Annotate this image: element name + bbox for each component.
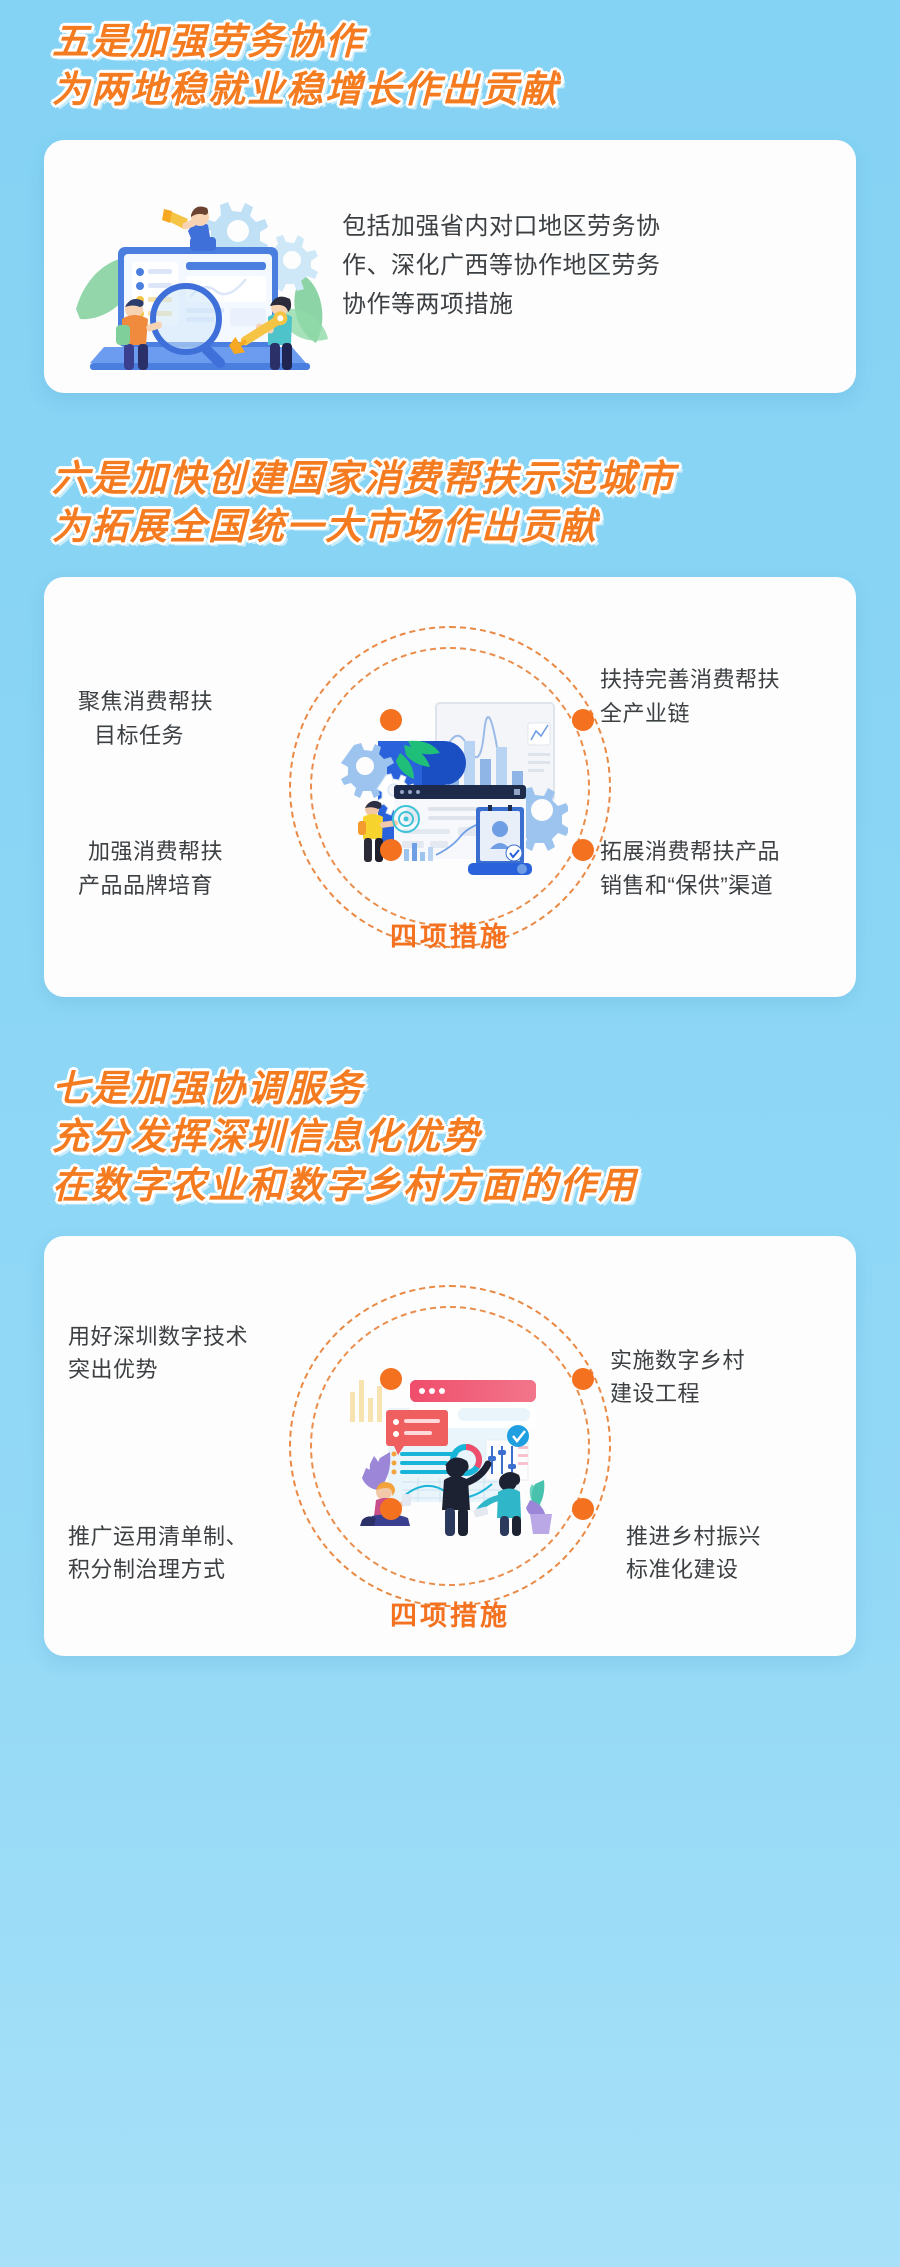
digital-village-people-dashboard-icon [332, 1356, 568, 1536]
node-label-bottom-right: 推进乡村振兴 标准化建设 [626, 1520, 761, 1587]
node-label-top-left: 聚焦消费帮扶 目标任务 [78, 685, 213, 752]
title-line: 充分发挥深圳信息化优势 [52, 1113, 900, 1161]
title-line: 六是加快创建国家消费帮扶示范城市 [52, 455, 900, 503]
section-five: 五是加强劳务协作 为两地稳就业稳增长作出贡献 [0, 0, 900, 393]
section-five-title: 五是加强劳务协作 为两地稳就业稳增长作出贡献 [0, 18, 900, 114]
node-label-bottom-left: 加强消费帮扶 产品品牌培育 [78, 835, 223, 902]
label-line: 实施数字乡村 [610, 1344, 745, 1377]
label-line: 扶持完善消费帮扶 [600, 663, 780, 696]
node-dot-top-left [380, 1368, 402, 1390]
four-node-diagram: 用好深圳数字技术 突出优势 实施数字乡村 建设工程 推广运用清单制、 积分制治理… [44, 1236, 856, 1656]
title-line: 五是加强劳务协作 [52, 18, 900, 66]
section-five-card: 包括加强省内对口地区劳务协 作、深化广西等协作地区劳务 协作等两项措施 [44, 140, 856, 393]
node-label-bottom-left: 推广运用清单制、 积分制治理方式 [68, 1520, 248, 1587]
label-line: 建设工程 [610, 1377, 745, 1410]
section-seven-card: 用好深圳数字技术 突出优势 实施数字乡村 建设工程 推广运用清单制、 积分制治理… [44, 1236, 856, 1656]
label-line: 产品品牌培育 [78, 869, 223, 902]
label-line: 推进乡村振兴 [626, 1520, 761, 1553]
section-five-paragraph: 包括加强省内对口地区劳务协 作、深化广西等协作地区劳务 协作等两项措施 [338, 208, 830, 325]
title-line: 在数字农业和数字乡村方面的作用 [52, 1162, 900, 1210]
node-label-top-right: 扶持完善消费帮扶 全产业链 [600, 663, 780, 730]
infographic-page: 五是加强劳务协作 为两地稳就业稳增长作出贡献 [0, 0, 900, 2267]
node-dot-bottom-left [380, 1498, 402, 1520]
label-line: 标准化建设 [626, 1553, 761, 1586]
label-line: 推广运用清单制、 [68, 1520, 248, 1553]
title-line: 为拓展全国统一大市场作出贡献 [52, 503, 900, 551]
label-line: 突出优势 [68, 1353, 248, 1386]
label-line: 用好深圳数字技术 [68, 1320, 248, 1353]
section-six-title: 六是加快创建国家消费帮扶示范城市 为拓展全国统一大市场作出贡献 [0, 455, 900, 551]
label-line: 销售和“保供”渠道 [600, 869, 780, 902]
section-seven: 七是加强协调服务 充分发挥深圳信息化优势 在数字农业和数字乡村方面的作用 [0, 997, 900, 1655]
data-dashboard-gears-person-icon [332, 697, 568, 877]
label-line: 加强消费帮扶 [78, 835, 223, 868]
paragraph-line: 包括加强省内对口地区劳务协 [342, 208, 830, 247]
paragraph-line: 协作等两项措施 [342, 286, 830, 325]
label-line: 积分制治理方式 [68, 1553, 248, 1586]
label-line: 聚焦消费帮扶 [78, 685, 213, 718]
title-line: 为两地稳就业稳增长作出贡献 [52, 66, 900, 114]
section-six: 六是加快创建国家消费帮扶示范城市 为拓展全国统一大市场作出贡献 [0, 393, 900, 997]
node-dot-bottom-right [572, 1498, 594, 1520]
section-seven-title: 七是加强协调服务 充分发挥深圳信息化优势 在数字农业和数字乡村方面的作用 [0, 1065, 900, 1209]
measures-count-label: 四项措施 [44, 1594, 856, 1633]
measures-count-label: 四项措施 [44, 915, 856, 954]
paragraph-line: 作、深化广西等协作地区劳务 [342, 247, 830, 286]
title-line: 七是加强协调服务 [52, 1065, 900, 1113]
label-line: 全产业链 [600, 697, 780, 730]
label-line: 拓展消费帮扶产品 [600, 835, 780, 868]
node-label-bottom-right: 拓展消费帮扶产品 销售和“保供”渠道 [600, 835, 780, 902]
four-node-diagram: 聚焦消费帮扶 目标任务 扶持完善消费帮扶 全产业链 加强消费帮扶 产品品牌培育 … [44, 577, 856, 997]
section-six-card: 聚焦消费帮扶 目标任务 扶持完善消费帮扶 全产业链 加强消费帮扶 产品品牌培育 … [44, 577, 856, 997]
node-dot-top-right [572, 1368, 594, 1390]
node-label-top-left: 用好深圳数字技术 突出优势 [68, 1320, 248, 1387]
teamwork-megaphone-gears-magnifier-icon [70, 159, 338, 374]
node-label-top-right: 实施数字乡村 建设工程 [610, 1344, 745, 1411]
label-line: 目标任务 [78, 719, 213, 752]
